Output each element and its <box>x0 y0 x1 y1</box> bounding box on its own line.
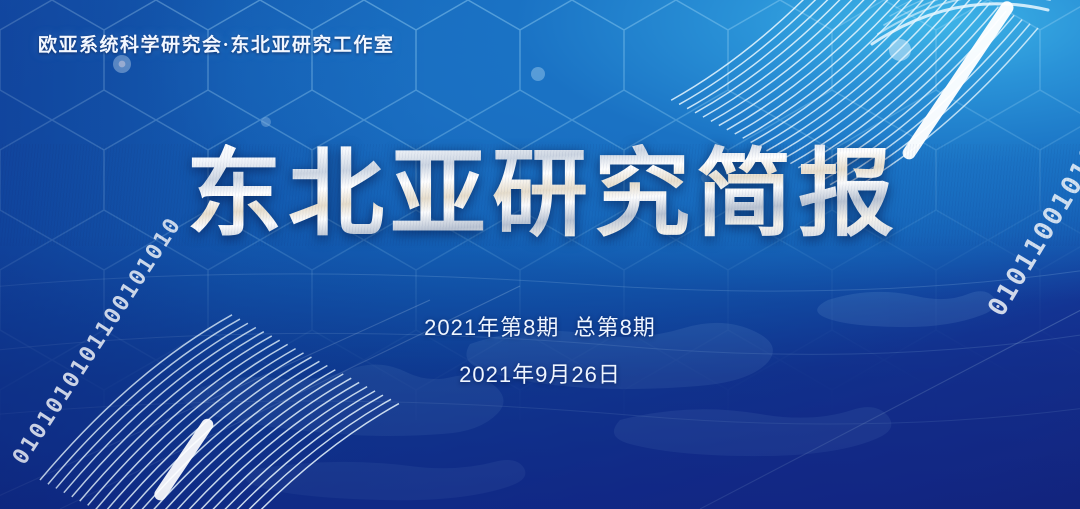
publication-date: 2021年9月26日 <box>0 357 1080 389</box>
title-block: 东北亚研究简报 <box>0 144 1080 246</box>
issue-number: 2021年第8期 总第8期 <box>0 310 1080 342</box>
vignette-overlay <box>0 0 1080 509</box>
report-cover: 0101100101010101010 <box>0 0 1080 509</box>
page-title: 东北亚研究简报 <box>180 144 900 246</box>
organization-line: 欧亚系统科学研究会·东北亚研究工作室 <box>38 30 394 57</box>
